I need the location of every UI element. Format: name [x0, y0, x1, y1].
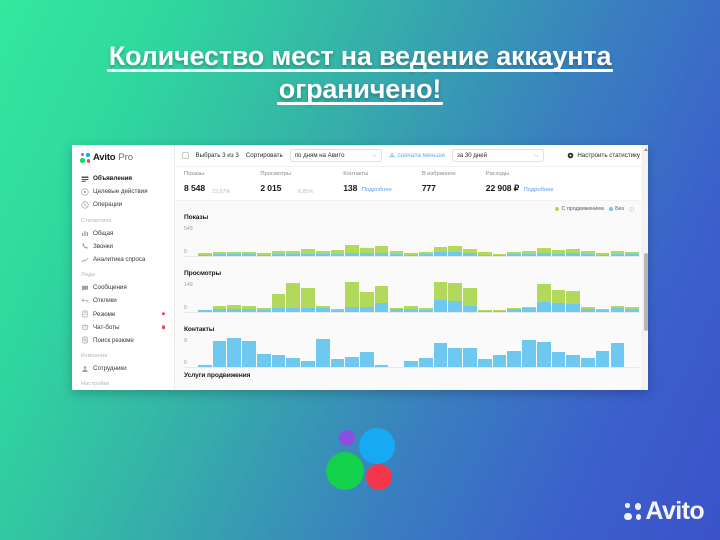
- bar-segment-contacts: [493, 355, 507, 367]
- bar-segment-without: [301, 254, 315, 256]
- chart-bar[interactable]: [360, 292, 374, 312]
- grouping-select-value: по дням на Авито: [295, 152, 345, 159]
- bar-segment-without: [375, 253, 389, 256]
- sidebar-item-label: Резюме: [93, 311, 115, 318]
- bar-segment-contacts: [345, 357, 359, 367]
- bar-segment-contacts: [537, 342, 551, 367]
- chart-bar[interactable]: [448, 246, 462, 256]
- chart-bar[interactable]: [301, 361, 315, 367]
- chart-bar[interactable]: [331, 359, 345, 367]
- info-icon[interactable]: [629, 207, 634, 212]
- kpi-details-link[interactable]: Подробнее: [524, 187, 554, 193]
- kpi-details-link[interactable]: Подробнее: [362, 187, 392, 193]
- sidebar-item-label: Объявления: [93, 175, 132, 182]
- chart-bar[interactable]: [257, 308, 271, 312]
- chart-bar[interactable]: [390, 308, 404, 312]
- chart-bar[interactable]: [448, 348, 462, 367]
- chart-bar[interactable]: [272, 294, 286, 312]
- bar-segment-contacts: [552, 352, 566, 367]
- bar-segment-without: [493, 255, 507, 256]
- circle-red: [366, 464, 392, 490]
- y-axis-max: 149: [184, 282, 193, 288]
- bar-segment-contacts: [463, 348, 477, 367]
- kpi-label: В избранное: [422, 171, 456, 177]
- y-axis-max: 549: [184, 226, 193, 232]
- page-title-line-1: Количество мест на ведение аккаунта: [107, 40, 614, 73]
- bar-segment-without: [581, 254, 595, 256]
- chart-bar[interactable]: [198, 365, 212, 367]
- legend-item-without[interactable]: Без: [609, 206, 624, 212]
- bar-segment-without: [522, 254, 536, 256]
- chart-bar[interactable]: [552, 352, 566, 367]
- sidebar-item-obyavleniya[interactable]: Объявления: [72, 172, 174, 185]
- bar-segment-without: [448, 252, 462, 256]
- bar-segment-without: [552, 254, 566, 256]
- chart-legend: С продвижением Без: [555, 206, 634, 212]
- chart-bar[interactable]: [286, 283, 300, 312]
- sidebar-item-poisk-rezyume[interactable]: Поиск резюме: [72, 334, 174, 347]
- chart-prosmotry: Просмотры 149 0: [175, 257, 648, 313]
- chart-bar[interactable]: [581, 358, 595, 367]
- kpi-prosmotry: Просмотры 2 015 6,85%: [260, 171, 313, 197]
- bar-segment-contacts: [522, 340, 536, 367]
- people-icon: [81, 365, 89, 373]
- kpi-delta: 6,85%: [298, 189, 313, 195]
- chart-bar[interactable]: [345, 357, 359, 367]
- bar-segment-contacts: [581, 358, 595, 367]
- kpi-v-izbrannoe: В избранное 777: [422, 171, 456, 197]
- chart-bar[interactable]: [242, 306, 256, 312]
- bar-segment-without: [478, 255, 492, 256]
- bar-segment-without: [419, 254, 433, 256]
- chart-plot: 149 0: [184, 282, 639, 313]
- chart-bar[interactable]: [507, 351, 521, 367]
- sidebar-group-nastroyki: Настройки: [72, 375, 174, 390]
- chart-bar[interactable]: [227, 338, 241, 367]
- chart-bar[interactable]: [625, 307, 639, 312]
- circle-purple: [339, 430, 355, 446]
- chart-bar[interactable]: [596, 351, 610, 367]
- bar-segment-without: [242, 254, 256, 256]
- circle-blue: [359, 428, 395, 464]
- select-count-label: Выбрать 3 из 3: [196, 152, 239, 159]
- chart-bar[interactable]: [301, 288, 315, 312]
- clock-icon: [81, 201, 89, 209]
- bar-segment-without: [419, 310, 433, 312]
- bar-segment-contacts: [316, 339, 330, 367]
- avito-watermark: Avito: [624, 497, 704, 526]
- chart-bar[interactable]: [537, 248, 551, 256]
- chart-bar[interactable]: [316, 251, 330, 256]
- kpi-value: 22 908 ₽: [486, 183, 519, 193]
- avito-watermark-logo-icon: [624, 503, 641, 520]
- chart-bar[interactable]: [581, 251, 595, 256]
- chart-bar[interactable]: [375, 246, 389, 256]
- chart-bar[interactable]: [331, 309, 345, 312]
- chart-title: Показы: [184, 214, 208, 221]
- chart-bar[interactable]: [507, 308, 521, 312]
- chart-bar[interactable]: [611, 306, 625, 312]
- bar-segment-contacts: [478, 359, 492, 367]
- sidebar-item-zvonki[interactable]: Звонки: [72, 240, 174, 253]
- kpi-value: 2 015: [260, 183, 281, 193]
- chart-bar[interactable]: [404, 361, 418, 367]
- chart-bar[interactable]: [316, 339, 330, 367]
- bar-segment-contacts: [198, 365, 212, 367]
- chart-bar[interactable]: [463, 348, 477, 367]
- period-select-value: за 30 дней: [457, 152, 487, 159]
- kpi-label: Просмотры: [260, 171, 291, 177]
- bar-segment-without: [478, 311, 492, 312]
- sidebar-item-label: Операции: [93, 201, 122, 208]
- bar-chart-icon: [81, 229, 89, 237]
- notification-badge: [162, 326, 165, 329]
- bar-segment-without: [507, 309, 521, 312]
- bar-segment-without: [227, 309, 241, 312]
- sidebar-item-label: Сообщения: [93, 284, 127, 291]
- bar-segment-without: [596, 255, 610, 256]
- sidebar-item-label: Отклики: [93, 297, 117, 304]
- bar-segment-without: [390, 254, 404, 256]
- chart-bar[interactable]: [596, 253, 610, 256]
- chart-bar[interactable]: [566, 291, 580, 312]
- configure-stats-label: Настроить статистику: [577, 152, 640, 159]
- chart-bar[interactable]: [286, 251, 300, 256]
- sidebar-item-rezyume[interactable]: Резюме: [72, 308, 174, 321]
- chart-bar[interactable]: [360, 352, 374, 367]
- trend-icon: [81, 256, 89, 264]
- sidebar-item-sotrudniki[interactable]: Сотрудники: [72, 362, 174, 375]
- chart-bar[interactable]: [242, 341, 256, 367]
- reply-icon: [81, 297, 89, 305]
- kpi-row: Показы 8 548 23,57% Просмотры 2 015 6,85…: [175, 167, 648, 201]
- avito-pro-screenshot: Avito Pro Объявления Целевые действия Оп…: [72, 145, 648, 390]
- chart-bar[interactable]: [242, 252, 256, 256]
- bar-segment-without: [198, 310, 212, 312]
- bar-segment-contacts: [434, 343, 448, 367]
- bar-segment-without: [257, 310, 271, 312]
- bar-segment-contacts: [596, 351, 610, 367]
- chart-bar[interactable]: [227, 252, 241, 256]
- chart-bar[interactable]: [404, 253, 418, 256]
- chart-bar[interactable]: [493, 254, 507, 256]
- message-icon: [81, 284, 89, 292]
- bar-segment-contacts: [272, 355, 286, 367]
- select-all-checkbox[interactable]: [182, 152, 189, 159]
- kpi-label: Расходы: [486, 171, 554, 177]
- chart-bar[interactable]: [611, 343, 625, 367]
- period-select[interactable]: за 30 дней: [452, 149, 544, 162]
- section-label-uslugi-prodvizheniya: Услуги продвижения: [184, 372, 639, 379]
- scrollbar-thumb[interactable]: [644, 253, 648, 331]
- bar-segment-without: [301, 308, 315, 312]
- sidebar-item-soobshcheniya[interactable]: Сообщения: [72, 281, 174, 294]
- chart-bar[interactable]: [625, 252, 639, 256]
- bar-segment-promoted: [566, 291, 580, 304]
- page-title: Количество мест на ведение аккаунта огра…: [0, 40, 720, 106]
- bar-segment-without: [596, 310, 610, 312]
- bar-segment-without: [390, 309, 404, 312]
- page-title-line-2: ограничено!: [277, 73, 443, 106]
- bar-segment-promoted: [345, 245, 359, 253]
- chart-bar[interactable]: [478, 252, 492, 256]
- sort-asc-icon: [389, 153, 395, 158]
- chart-bar[interactable]: [552, 290, 566, 312]
- y-axis-min: 0: [184, 305, 187, 311]
- bar-segment-contacts: [257, 354, 271, 367]
- bar-segment-without: [213, 309, 227, 312]
- bar-segment-contacts: [360, 352, 374, 367]
- chart-bar[interactable]: [566, 249, 580, 256]
- kpi-value: 8 548: [184, 183, 205, 193]
- kpi-label: Контакты: [343, 171, 392, 177]
- y-axis-max: 9: [184, 338, 187, 344]
- sidebar-item-label: Аналитика спроса: [93, 256, 145, 263]
- bar-segment-promoted: [434, 282, 448, 300]
- main-panel: Выбрать 3 из 3 Сортировать по дням на Ав…: [175, 145, 648, 390]
- sidebar-item-chat-boty[interactable]: Чат-боты: [72, 321, 174, 334]
- logo-brand: Avito: [93, 152, 115, 163]
- bar-segment-without: [331, 310, 345, 312]
- chart-bar[interactable]: [493, 355, 507, 367]
- chart-bar[interactable]: [448, 283, 462, 312]
- bar-segment-promoted: [375, 286, 389, 303]
- sidebar-item-operacii[interactable]: Операции: [72, 198, 174, 211]
- chart-bar[interactable]: [552, 250, 566, 256]
- bar-segment-contacts: [448, 348, 462, 367]
- chart-bar[interactable]: [345, 245, 359, 256]
- chart-bar[interactable]: [566, 355, 580, 367]
- chart-bar[interactable]: [434, 282, 448, 312]
- bar-segment-promoted: [286, 283, 300, 308]
- chart-bar[interactable]: [434, 247, 448, 256]
- chart-bar[interactable]: [463, 249, 477, 256]
- bar-segment-contacts: [419, 358, 433, 367]
- bot-icon: [81, 323, 89, 331]
- bar-segment-contacts: [375, 365, 389, 367]
- bar-segment-without: [272, 308, 286, 312]
- chart-bar[interactable]: [301, 249, 315, 256]
- bar-segment-without: [316, 308, 330, 312]
- bar-segment-promoted: [552, 290, 566, 303]
- phone-icon: [81, 242, 89, 250]
- bar-segment-without: [227, 254, 241, 256]
- bar-segment-promoted: [463, 288, 477, 307]
- list-icon: [81, 175, 89, 183]
- chart-bar[interactable]: [478, 359, 492, 367]
- kpi-rashody: Расходы 22 908 ₽ Подробнее: [486, 171, 554, 197]
- bar-segment-contacts: [331, 359, 345, 367]
- bar-segment-without: [360, 253, 374, 256]
- chart-plot: 9 0: [184, 338, 639, 368]
- chart-bar[interactable]: [272, 251, 286, 256]
- chart-bar[interactable]: [198, 253, 212, 256]
- legend-item-promoted[interactable]: С продвижением: [555, 206, 604, 212]
- chart-bar[interactable]: [522, 307, 536, 312]
- chart-bar[interactable]: [227, 305, 241, 312]
- kpi-label: Показы: [184, 171, 205, 177]
- bar-segment-contacts: [242, 341, 256, 367]
- bar-segment-without: [272, 254, 286, 256]
- chart-bar[interactable]: [257, 354, 271, 367]
- chart-kontakty: Контакты 9 0 Услуги продвижения: [175, 313, 648, 379]
- sidebar-group-kompaniya: Компания: [72, 347, 174, 362]
- vertical-scrollbar[interactable]: [642, 145, 648, 390]
- gear-icon: [567, 152, 574, 159]
- sidebar: Avito Pro Объявления Целевые действия Оп…: [72, 145, 175, 390]
- chart-bar[interactable]: [522, 340, 536, 367]
- chart-bar[interactable]: [419, 358, 433, 367]
- notification-badge: [162, 312, 165, 315]
- bar-segment-without: [537, 253, 551, 256]
- bar-segment-promoted: [301, 288, 315, 307]
- sidebar-item-label: Общая: [93, 230, 113, 237]
- bar-segment-without: [493, 311, 507, 312]
- bar-segment-contacts: [213, 341, 227, 367]
- decorative-circles: [326, 428, 396, 496]
- bar-segment-without: [242, 309, 256, 312]
- chart-bar[interactable]: [375, 365, 389, 367]
- chart-bar[interactable]: [404, 306, 418, 312]
- chart-bar[interactable]: [537, 342, 551, 367]
- bar-segment-without: [404, 255, 418, 256]
- chart-bar[interactable]: [286, 358, 300, 367]
- chart-bar[interactable]: [390, 251, 404, 256]
- chart-title: Просмотры: [184, 270, 221, 277]
- chart-bar[interactable]: [493, 310, 507, 312]
- chart-bar[interactable]: [419, 308, 433, 312]
- sidebar-item-otkliki[interactable]: Отклики: [72, 294, 174, 307]
- avito-watermark-text: Avito: [645, 497, 704, 526]
- kpi-kontakty: Контакты 138 Подробнее: [343, 171, 392, 197]
- sidebar-group-lidy: Лиды: [72, 266, 174, 281]
- bar-segment-without: [552, 303, 566, 312]
- chart-bar[interactable]: [360, 248, 374, 256]
- chart-bar[interactable]: [507, 252, 521, 256]
- logo-suffix: Pro: [118, 152, 132, 163]
- bar-segment-without: [345, 307, 359, 312]
- bar-segment-without: [345, 253, 359, 256]
- y-axis-min: 0: [184, 360, 187, 366]
- sidebar-item-label: Звонки: [93, 243, 113, 250]
- scroll-up-arrow-icon[interactable]: [644, 148, 648, 151]
- chart-title: Контакты: [184, 326, 214, 333]
- chart-bar[interactable]: [345, 282, 359, 312]
- bar-segment-without: [404, 309, 418, 312]
- chart-bar[interactable]: [537, 284, 551, 312]
- document-icon: [81, 310, 89, 318]
- chart-bar[interactable]: [331, 250, 345, 256]
- chart-bar[interactable]: [434, 343, 448, 367]
- sidebar-item-label: Сотрудники: [93, 365, 127, 372]
- chart-bar[interactable]: [213, 306, 227, 312]
- sidebar-item-label: Чат-боты: [93, 324, 120, 331]
- bar-segment-without: [257, 255, 271, 256]
- bar-segment-without: [360, 307, 374, 312]
- kpi-pokazy: Показы 8 548 23,57%: [184, 171, 230, 197]
- sidebar-item-celevye-deystviya[interactable]: Целевые действия: [72, 185, 174, 198]
- grouping-select[interactable]: по дням на Авито: [290, 149, 382, 162]
- bar-segment-without: [286, 254, 300, 256]
- bar-segment-promoted: [448, 283, 462, 301]
- bar-segment-promoted: [360, 292, 374, 307]
- bar-segment-without: [213, 254, 227, 256]
- chart-bar[interactable]: [419, 252, 433, 256]
- bar-segment-without: [507, 254, 521, 256]
- avito-pro-logo[interactable]: Avito Pro: [72, 152, 174, 172]
- sort-direction-label: сначала меньше: [398, 152, 445, 159]
- bar-segment-without: [434, 252, 448, 256]
- chart-bar[interactable]: [316, 306, 330, 312]
- bar-segment-contacts: [286, 358, 300, 367]
- chart-bar[interactable]: [213, 341, 227, 367]
- sidebar-item-label: Целевые действия: [93, 188, 147, 195]
- bar-segment-without: [625, 254, 639, 256]
- bar-segment-promoted: [537, 284, 551, 302]
- kpi-value: 777: [422, 183, 436, 193]
- bar-segment-without: [463, 253, 477, 256]
- sidebar-item-obshchaya[interactable]: Общая: [72, 227, 174, 240]
- bar-segment-contacts: [611, 343, 625, 367]
- bar-segment-without: [522, 308, 536, 312]
- kpi-value: 138: [343, 183, 357, 193]
- chart-bar[interactable]: [611, 251, 625, 256]
- bar-segment-contacts: [507, 351, 521, 367]
- bar-segment-without: [375, 303, 389, 312]
- sidebar-item-analitika-sprosa[interactable]: Аналитика спроса: [72, 253, 174, 266]
- bar-segment-without: [448, 301, 462, 312]
- sidebar-group-statistika: Статистика: [72, 212, 174, 227]
- chart-bar[interactable]: [198, 310, 212, 312]
- chart-bar[interactable]: [257, 253, 271, 256]
- sidebar-item-label: Поиск резюме: [93, 337, 134, 344]
- bar-segment-without: [611, 308, 625, 312]
- bar-segment-without: [611, 254, 625, 256]
- chart-bar[interactable]: [581, 307, 595, 312]
- target-icon: [81, 188, 89, 196]
- chevron-down-icon: [534, 154, 539, 157]
- bar-segment-without: [566, 253, 580, 256]
- legend-label: С продвижением: [562, 206, 605, 212]
- chart-bar[interactable]: [522, 251, 536, 256]
- chart-bar[interactable]: [478, 310, 492, 312]
- chart-bar[interactable]: [213, 252, 227, 256]
- bar-segment-contacts: [566, 355, 580, 367]
- chart-plot: 549 0: [184, 226, 639, 257]
- chart-bar[interactable]: [375, 286, 389, 312]
- chart-pokazy: Показы С продвижением Без 549 0: [175, 201, 648, 257]
- y-axis-min: 0: [184, 249, 187, 255]
- bar-segment-promoted: [272, 294, 286, 308]
- circle-green: [326, 452, 364, 490]
- bar-segment-without: [198, 255, 212, 256]
- bar-segment-without: [331, 254, 345, 256]
- search-doc-icon: [81, 336, 89, 344]
- toolbar: Выбрать 3 из 3 Сортировать по дням на Ав…: [175, 145, 648, 167]
- avito-logo-icon: [80, 153, 90, 163]
- bar-segment-without: [434, 300, 448, 312]
- bar-segment-without: [566, 304, 580, 312]
- kpi-delta: 23,57%: [212, 189, 230, 195]
- configure-stats-button[interactable]: Настроить статистику: [567, 152, 640, 159]
- chart-bar[interactable]: [272, 355, 286, 367]
- chart-bar[interactable]: [596, 309, 610, 312]
- bar-segment-without: [286, 308, 300, 312]
- bar-segment-contacts: [227, 338, 241, 367]
- sort-direction-link[interactable]: сначала меньше: [389, 152, 445, 159]
- sort-label: Сортировать: [246, 152, 283, 159]
- chart-bar[interactable]: [463, 288, 477, 312]
